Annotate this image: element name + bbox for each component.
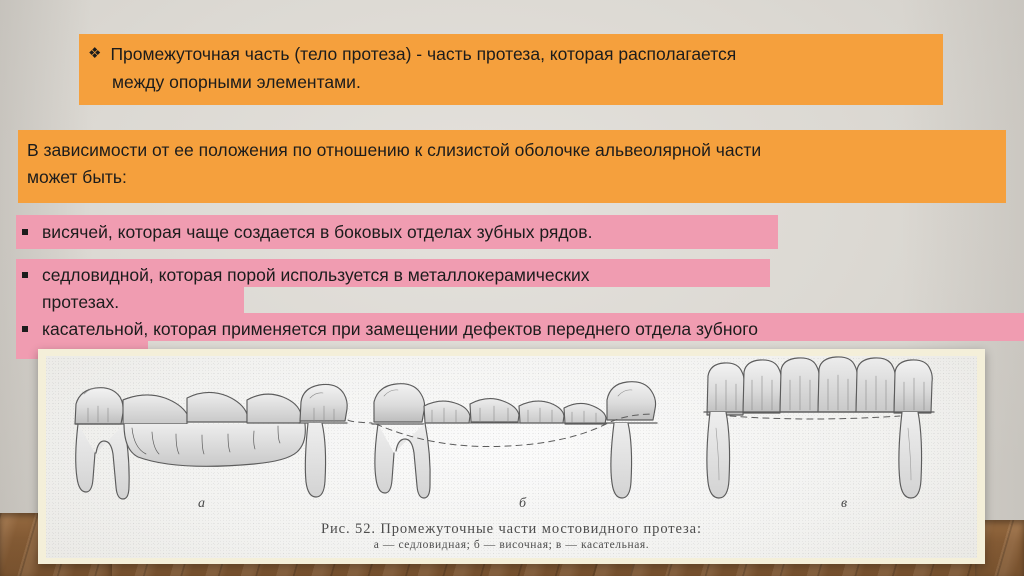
figure-label-b: б <box>519 496 526 512</box>
figure-label-v: в <box>841 496 847 512</box>
square-bullet-icon <box>22 229 28 235</box>
callout-line-2: между опорными элементами. <box>88 68 938 96</box>
diamond-bullet-icon: ❖ <box>88 40 101 68</box>
pink-bullet-2-body: седловидной, которая порой используется … <box>42 262 590 316</box>
callout-line-1: ❖ Промежуточная часть (тело протеза) - ч… <box>88 40 938 68</box>
pink-bullet-3-line-1: касательной, которая применяется при зам… <box>42 316 758 343</box>
intro-orange-block: В зависимости от ее положения по отношен… <box>27 137 1007 191</box>
callout-indent-spacer <box>88 68 103 96</box>
callout-text-line-2: между опорными элементами. <box>112 68 361 96</box>
callout-orange-block: ❖ Промежуточная часть (тело протеза) - ч… <box>88 40 938 96</box>
pink-bullet-2: седловидной, которая порой используется … <box>22 262 1022 316</box>
figure-caption-line-2: а — седловидная; б — височная; в — касат… <box>46 539 977 551</box>
pink-bullet-1-text: висячей, которая чаще создается в боковы… <box>42 220 592 245</box>
pink-bullet-2-line-1: седловидной, которая порой используется … <box>42 262 590 289</box>
figure-caption: Рис. 52. Промежуточные части мостовидног… <box>46 521 977 551</box>
square-bullet-icon <box>22 326 28 332</box>
figure-plate: а б в Рис. 52. Промежуточные части мосто… <box>46 356 977 558</box>
figure-caption-line-1: Рис. 52. Промежуточные части мостовидног… <box>46 521 977 538</box>
figure-label-a: а <box>198 496 205 512</box>
figure-frame: а б в Рис. 52. Промежуточные части мосто… <box>38 349 985 564</box>
pink-bullet-1: висячей, которая чаще создается в боковы… <box>22 220 592 245</box>
callout-text-line-1: Промежуточная часть (тело протеза) - час… <box>110 40 736 68</box>
intro-line-2: может быть: <box>27 164 1007 191</box>
slide-canvas: ❖ Промежуточная часть (тело протеза) - ч… <box>0 0 1024 576</box>
pink-bullet-2-line-2: протезах. <box>42 289 590 316</box>
square-bullet-icon <box>22 272 28 278</box>
intro-line-1: В зависимости от ее положения по отношен… <box>27 137 1007 164</box>
